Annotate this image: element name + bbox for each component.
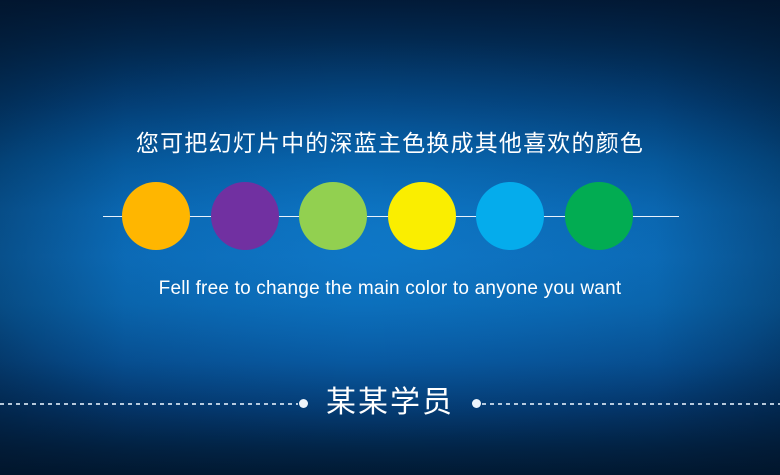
slide-subtitle-english: Fell free to change the main color to an… [0,278,780,300]
color-swatch-light-green[interactable] [299,182,367,250]
slide-headline-chinese: 您可把幻灯片中的深蓝主色换成其他喜欢的颜色 [0,124,780,158]
color-swatch-yellow[interactable] [388,182,456,250]
footer-author-name: 某某学员 [310,381,470,425]
color-swatch-green[interactable] [565,182,633,250]
color-swatch-cyan[interactable] [476,182,544,250]
color-swatch-orange[interactable] [122,182,190,250]
color-swatch-purple[interactable] [211,182,279,250]
footer-dashed-rule-right [482,403,780,405]
footer-bullet-left-icon [299,399,308,408]
footer-bullet-right-icon [472,399,481,408]
presentation-slide: 您可把幻灯片中的深蓝主色换成其他喜欢的颜色 Fell free to chang… [0,0,780,475]
slide-footer: 某某学员 [0,381,780,429]
color-swatch-row [0,182,780,252]
footer-dashed-rule-left [0,403,298,405]
